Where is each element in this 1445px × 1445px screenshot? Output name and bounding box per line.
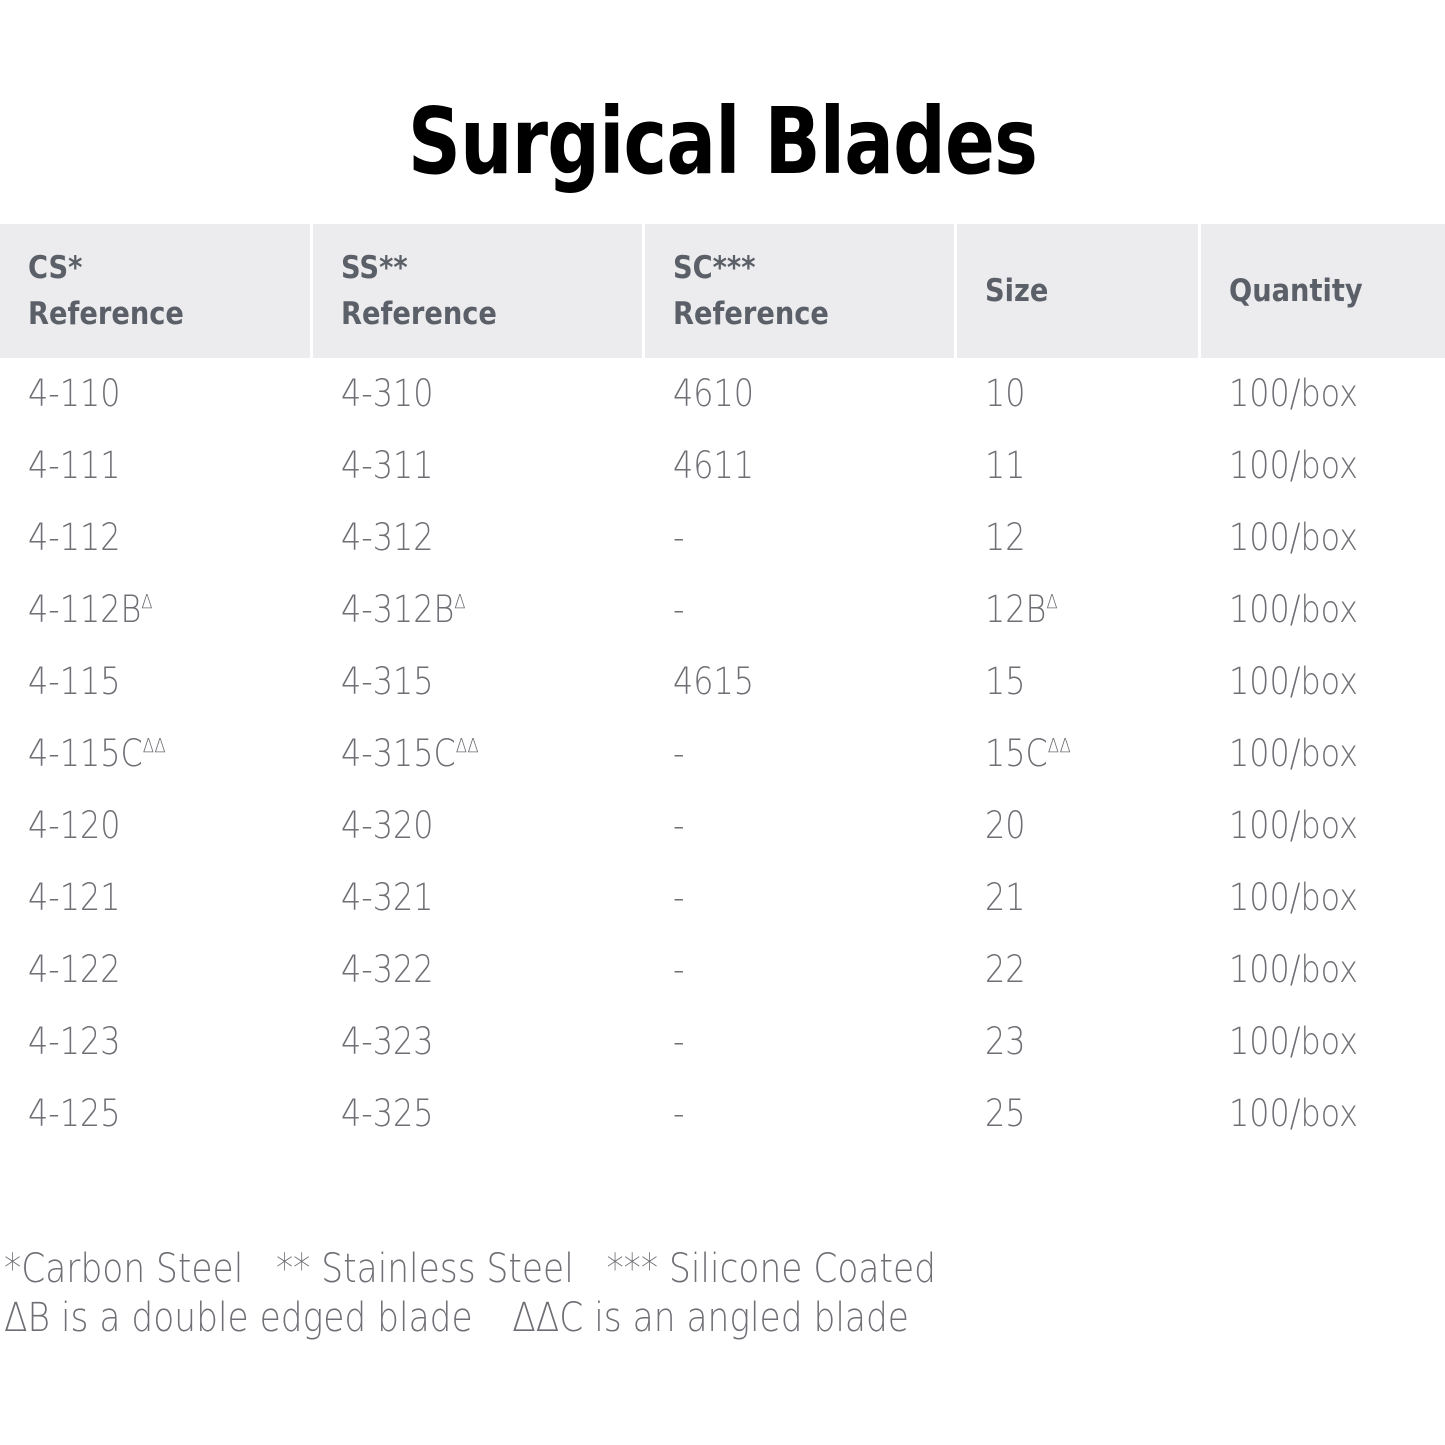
cell-cs-reference-value: 4-112BΔ bbox=[28, 588, 153, 632]
table-row: 4-1104-310461010100/box bbox=[0, 358, 1445, 430]
cell-sc-reference: - bbox=[645, 588, 954, 632]
cell-ss-reference-value: 4-315 bbox=[341, 660, 433, 704]
footnote-part: ** Stainless Steel bbox=[276, 1246, 574, 1292]
cell-size-value: 20 bbox=[985, 804, 1026, 848]
cell-size: 15 bbox=[957, 660, 1198, 704]
cell-size: 25 bbox=[957, 1092, 1198, 1136]
cell-ss-reference-value: 4-320 bbox=[341, 804, 433, 848]
cell-sc-reference-value: - bbox=[673, 732, 684, 776]
cell-ss-reference: 4-321 bbox=[313, 876, 643, 920]
cell-size: 15CΔΔ bbox=[957, 732, 1198, 776]
cell-quantity: 100/box bbox=[1201, 876, 1445, 920]
cell-sc-reference-value: - bbox=[673, 1020, 684, 1064]
cell-size: 10 bbox=[957, 372, 1198, 416]
column-header-quantity: Quantity bbox=[1201, 224, 1445, 358]
footnote-part: ΔΔC is an angled blade bbox=[512, 1295, 909, 1341]
cell-cs-reference-value: 4-115 bbox=[28, 660, 120, 704]
cell-ss-reference: 4-312BΔ bbox=[313, 588, 643, 632]
cell-ss-reference: 4-312 bbox=[313, 516, 643, 560]
column-header-quantity-label: Quantity bbox=[1229, 268, 1419, 314]
cell-sc-reference: - bbox=[645, 732, 954, 776]
cell-sc-reference: - bbox=[645, 804, 954, 848]
cell-quantity: 100/box bbox=[1201, 732, 1445, 776]
surgical-blades-table: CS* Reference SS** Reference SC*** Refer… bbox=[0, 224, 1445, 1150]
table-body: 4-1104-310461010100/box4-1114-3114611111… bbox=[0, 358, 1445, 1150]
cell-cs-reference: 4-123 bbox=[0, 1020, 310, 1064]
cell-sc-reference-value: - bbox=[673, 588, 684, 632]
cell-size: 11 bbox=[957, 444, 1198, 488]
cell-ss-reference: 4-320 bbox=[313, 804, 643, 848]
cell-quantity: 100/box bbox=[1201, 660, 1445, 704]
cell-sc-reference: 4615 bbox=[645, 660, 954, 704]
cell-cs-reference-value: 4-115CΔΔ bbox=[28, 732, 166, 776]
cell-cs-reference-value: 4-112 bbox=[28, 516, 120, 560]
delta-superscript: ΔΔ bbox=[455, 735, 479, 758]
cell-quantity: 100/box bbox=[1201, 516, 1445, 560]
cell-cs-reference: 4-115CΔΔ bbox=[0, 732, 310, 776]
footnote-line-materials: *Carbon Steel** Stainless Steel*** Silic… bbox=[4, 1245, 1243, 1294]
delta-superscript: Δ bbox=[1046, 591, 1058, 614]
table-row: 4-115CΔΔ4-315CΔΔ-15CΔΔ100/box bbox=[0, 718, 1445, 790]
cell-ss-reference-value: 4-323 bbox=[341, 1020, 433, 1064]
cell-quantity-value: 100/box bbox=[1229, 444, 1358, 488]
column-header-sc-line2: Reference bbox=[673, 291, 920, 337]
cell-ss-reference: 4-322 bbox=[313, 948, 643, 992]
cell-sc-reference: 4611 bbox=[645, 444, 954, 488]
cell-sc-reference: - bbox=[645, 948, 954, 992]
cell-cs-reference-value: 4-125 bbox=[28, 1092, 120, 1136]
cell-cs-reference: 4-121 bbox=[0, 876, 310, 920]
cell-sc-reference: - bbox=[645, 1092, 954, 1136]
blade-reference-sheet: Surgical Blades CS* Reference SS** Refer… bbox=[0, 0, 1445, 1445]
cell-sc-reference-value: - bbox=[673, 948, 684, 992]
delta-superscript: ΔΔ bbox=[1048, 735, 1072, 758]
cell-cs-reference: 4-120 bbox=[0, 804, 310, 848]
cell-ss-reference-value: 4-310 bbox=[341, 372, 433, 416]
cell-sc-reference-value: 4610 bbox=[673, 372, 754, 416]
cell-size-value: 15CΔΔ bbox=[985, 732, 1071, 776]
table-row: 4-1214-321-21100/box bbox=[0, 862, 1445, 934]
column-header-cs-line1: CS* bbox=[28, 245, 276, 291]
cell-quantity-value: 100/box bbox=[1229, 732, 1358, 776]
cell-ss-reference-value: 4-312BΔ bbox=[341, 588, 466, 632]
cell-cs-reference-value: 4-122 bbox=[28, 948, 120, 992]
cell-cs-reference: 4-112BΔ bbox=[0, 588, 310, 632]
cell-sc-reference: - bbox=[645, 1020, 954, 1064]
cell-size-value: 22 bbox=[985, 948, 1026, 992]
cell-ss-reference-value: 4-312 bbox=[341, 516, 433, 560]
footnote-part: *Carbon Steel bbox=[4, 1246, 243, 1292]
cell-quantity: 100/box bbox=[1201, 444, 1445, 488]
cell-quantity: 100/box bbox=[1201, 588, 1445, 632]
cell-quantity: 100/box bbox=[1201, 372, 1445, 416]
cell-ss-reference: 4-325 bbox=[313, 1092, 643, 1136]
cell-quantity: 100/box bbox=[1201, 948, 1445, 992]
cell-size: 20 bbox=[957, 804, 1198, 848]
delta-superscript: Δ bbox=[454, 591, 466, 614]
column-header-cs-reference: CS* Reference bbox=[0, 224, 310, 358]
cell-quantity-value: 100/box bbox=[1229, 1020, 1358, 1064]
cell-quantity-value: 100/box bbox=[1229, 948, 1358, 992]
cell-ss-reference: 4-310 bbox=[313, 372, 643, 416]
cell-size-value: 23 bbox=[985, 1020, 1026, 1064]
cell-size-value: 11 bbox=[985, 444, 1026, 488]
table-row: 4-1224-322-22100/box bbox=[0, 934, 1445, 1006]
cell-size-value: 25 bbox=[985, 1092, 1026, 1136]
cell-ss-reference: 4-315 bbox=[313, 660, 643, 704]
cell-ss-reference: 4-311 bbox=[313, 444, 643, 488]
column-header-size: Size bbox=[957, 224, 1198, 358]
delta-superscript: ΔΔ bbox=[143, 735, 167, 758]
cell-sc-reference-value: - bbox=[673, 876, 684, 920]
cell-quantity-value: 100/box bbox=[1229, 516, 1358, 560]
table-row: 4-112BΔ4-312BΔ-12BΔ100/box bbox=[0, 574, 1445, 646]
table-header-row: CS* Reference SS** Reference SC*** Refer… bbox=[0, 224, 1445, 358]
cell-sc-reference: 4610 bbox=[645, 372, 954, 416]
cell-size-value: 15 bbox=[985, 660, 1026, 704]
column-header-ss-line1: SS** bbox=[341, 245, 606, 291]
column-header-cs-line2: Reference bbox=[28, 291, 276, 337]
cell-size-value: 12 bbox=[985, 516, 1026, 560]
cell-cs-reference-value: 4-120 bbox=[28, 804, 120, 848]
cell-size: 21 bbox=[957, 876, 1198, 920]
column-header-ss-reference: SS** Reference bbox=[313, 224, 643, 358]
cell-cs-reference: 4-111 bbox=[0, 444, 310, 488]
column-header-ss-line2: Reference bbox=[341, 291, 606, 337]
cell-cs-reference: 4-125 bbox=[0, 1092, 310, 1136]
cell-cs-reference-value: 4-123 bbox=[28, 1020, 120, 1064]
cell-sc-reference: - bbox=[645, 516, 954, 560]
cell-quantity-value: 100/box bbox=[1229, 804, 1358, 848]
column-header-size-label: Size bbox=[985, 268, 1172, 314]
footnote-part: *** Silicone Coated bbox=[606, 1246, 936, 1292]
cell-size: 12BΔ bbox=[957, 588, 1198, 632]
cell-quantity-value: 100/box bbox=[1229, 876, 1358, 920]
cell-sc-reference-value: - bbox=[673, 804, 684, 848]
column-header-sc-reference: SC*** Reference bbox=[645, 224, 954, 358]
cell-quantity-value: 100/box bbox=[1229, 660, 1358, 704]
cell-cs-reference: 4-110 bbox=[0, 372, 310, 416]
cell-cs-reference-value: 4-110 bbox=[28, 372, 120, 416]
cell-size: 22 bbox=[957, 948, 1198, 992]
cell-ss-reference: 4-323 bbox=[313, 1020, 643, 1064]
table-row: 4-1154-315461515100/box bbox=[0, 646, 1445, 718]
footnote-line-blade-shapes: ΔB is a double edged bladeΔΔC is an angl… bbox=[4, 1294, 1243, 1343]
page-title: Surgical Blades bbox=[145, 92, 1301, 192]
table-row: 4-1254-325-25100/box bbox=[0, 1078, 1445, 1150]
cell-cs-reference: 4-112 bbox=[0, 516, 310, 560]
cell-ss-reference: 4-315CΔΔ bbox=[313, 732, 643, 776]
table-row: 4-1204-320-20100/box bbox=[0, 790, 1445, 862]
cell-sc-reference-value: - bbox=[673, 1092, 684, 1136]
table-row: 4-1234-323-23100/box bbox=[0, 1006, 1445, 1078]
cell-cs-reference-value: 4-111 bbox=[28, 444, 120, 488]
cell-quantity-value: 100/box bbox=[1229, 588, 1358, 632]
cell-size-value: 10 bbox=[985, 372, 1026, 416]
cell-ss-reference-value: 4-322 bbox=[341, 948, 433, 992]
cell-size: 12 bbox=[957, 516, 1198, 560]
cell-sc-reference-value: - bbox=[673, 516, 684, 560]
cell-quantity: 100/box bbox=[1201, 1020, 1445, 1064]
cell-quantity: 100/box bbox=[1201, 804, 1445, 848]
cell-size-value: 12BΔ bbox=[985, 588, 1058, 632]
footnote-part: ΔB is a double edged blade bbox=[4, 1295, 473, 1341]
table-row: 4-1114-311461111100/box bbox=[0, 430, 1445, 502]
delta-superscript: Δ bbox=[141, 591, 153, 614]
cell-size-value: 21 bbox=[985, 876, 1026, 920]
cell-cs-reference: 4-122 bbox=[0, 948, 310, 992]
cell-ss-reference-value: 4-315CΔΔ bbox=[341, 732, 479, 776]
cell-sc-reference: - bbox=[645, 876, 954, 920]
cell-quantity-value: 100/box bbox=[1229, 1092, 1358, 1136]
cell-ss-reference-value: 4-325 bbox=[341, 1092, 433, 1136]
footnotes: *Carbon Steel** Stainless Steel*** Silic… bbox=[0, 1245, 1445, 1343]
cell-sc-reference-value: 4615 bbox=[673, 660, 754, 704]
cell-size: 23 bbox=[957, 1020, 1198, 1064]
table-row: 4-1124-312-12100/box bbox=[0, 502, 1445, 574]
cell-quantity: 100/box bbox=[1201, 1092, 1445, 1136]
cell-quantity-value: 100/box bbox=[1229, 372, 1358, 416]
cell-ss-reference-value: 4-311 bbox=[341, 444, 433, 488]
cell-sc-reference-value: 4611 bbox=[673, 444, 754, 488]
cell-cs-reference-value: 4-121 bbox=[28, 876, 120, 920]
column-header-sc-line1: SC*** bbox=[673, 245, 920, 291]
cell-ss-reference-value: 4-321 bbox=[341, 876, 433, 920]
cell-cs-reference: 4-115 bbox=[0, 660, 310, 704]
